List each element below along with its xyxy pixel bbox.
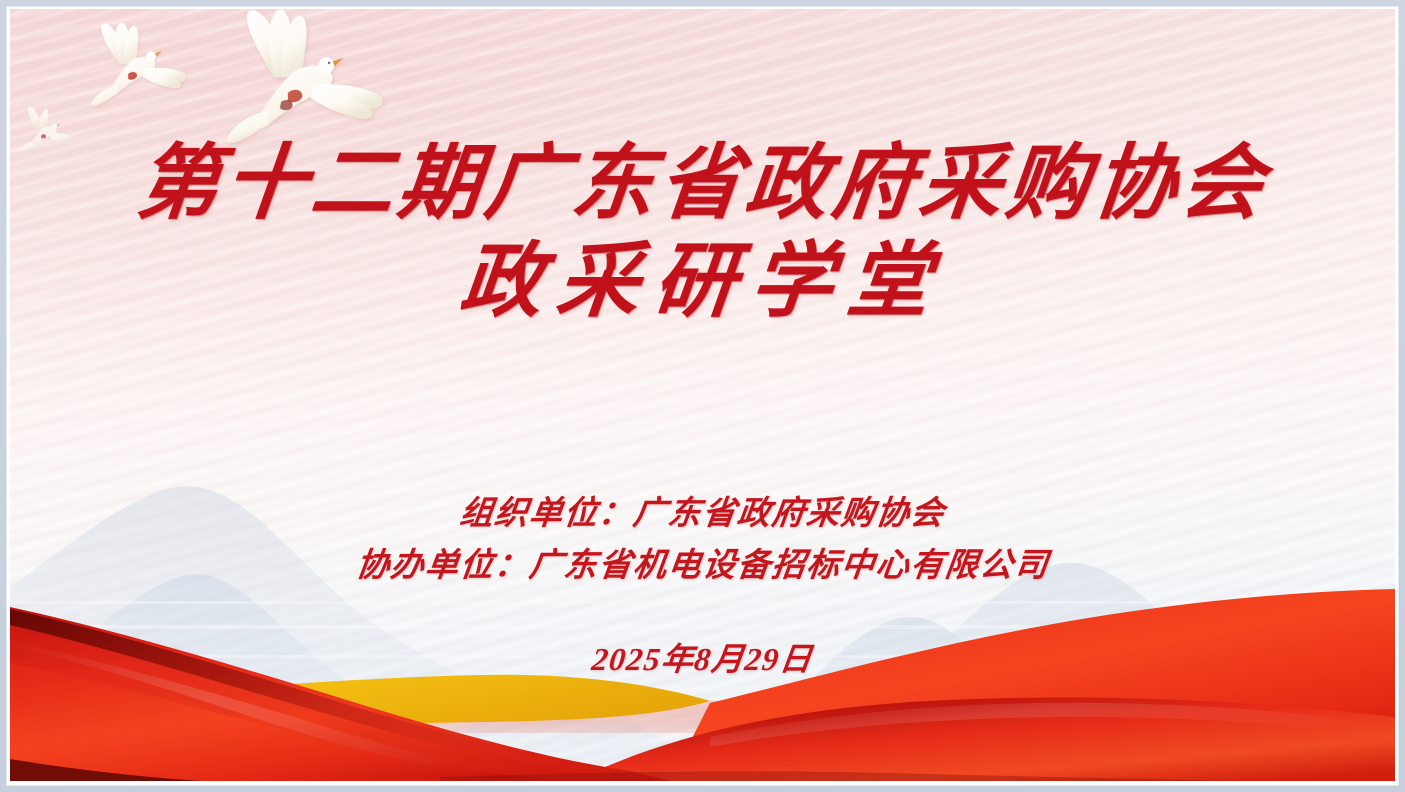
- slide-text-layer: 第十二期广东省政府采购协会 政采研学堂 组织单位：广东省政府采购协会 协办单位：…: [10, 9, 1395, 781]
- event-date: 2025年8月29日: [10, 643, 1395, 675]
- slide-canvas: 第十二期广东省政府采购协会 政采研学堂 组织单位：广东省政府采购协会 协办单位：…: [0, 0, 1405, 792]
- co-organizer-line: 协办单位：广东省机电设备招标中心有限公司: [10, 550, 1395, 583]
- organizer-line: 组织单位：广东省政府采购协会: [10, 498, 1395, 531]
- slide-title-line-2: 政采研学堂: [10, 241, 1395, 323]
- slide-title-line-1: 第十二期广东省政府采购协会: [10, 143, 1395, 225]
- slide-artwork: 第十二期广东省政府采购协会 政采研学堂 组织单位：广东省政府采购协会 协办单位：…: [10, 9, 1395, 781]
